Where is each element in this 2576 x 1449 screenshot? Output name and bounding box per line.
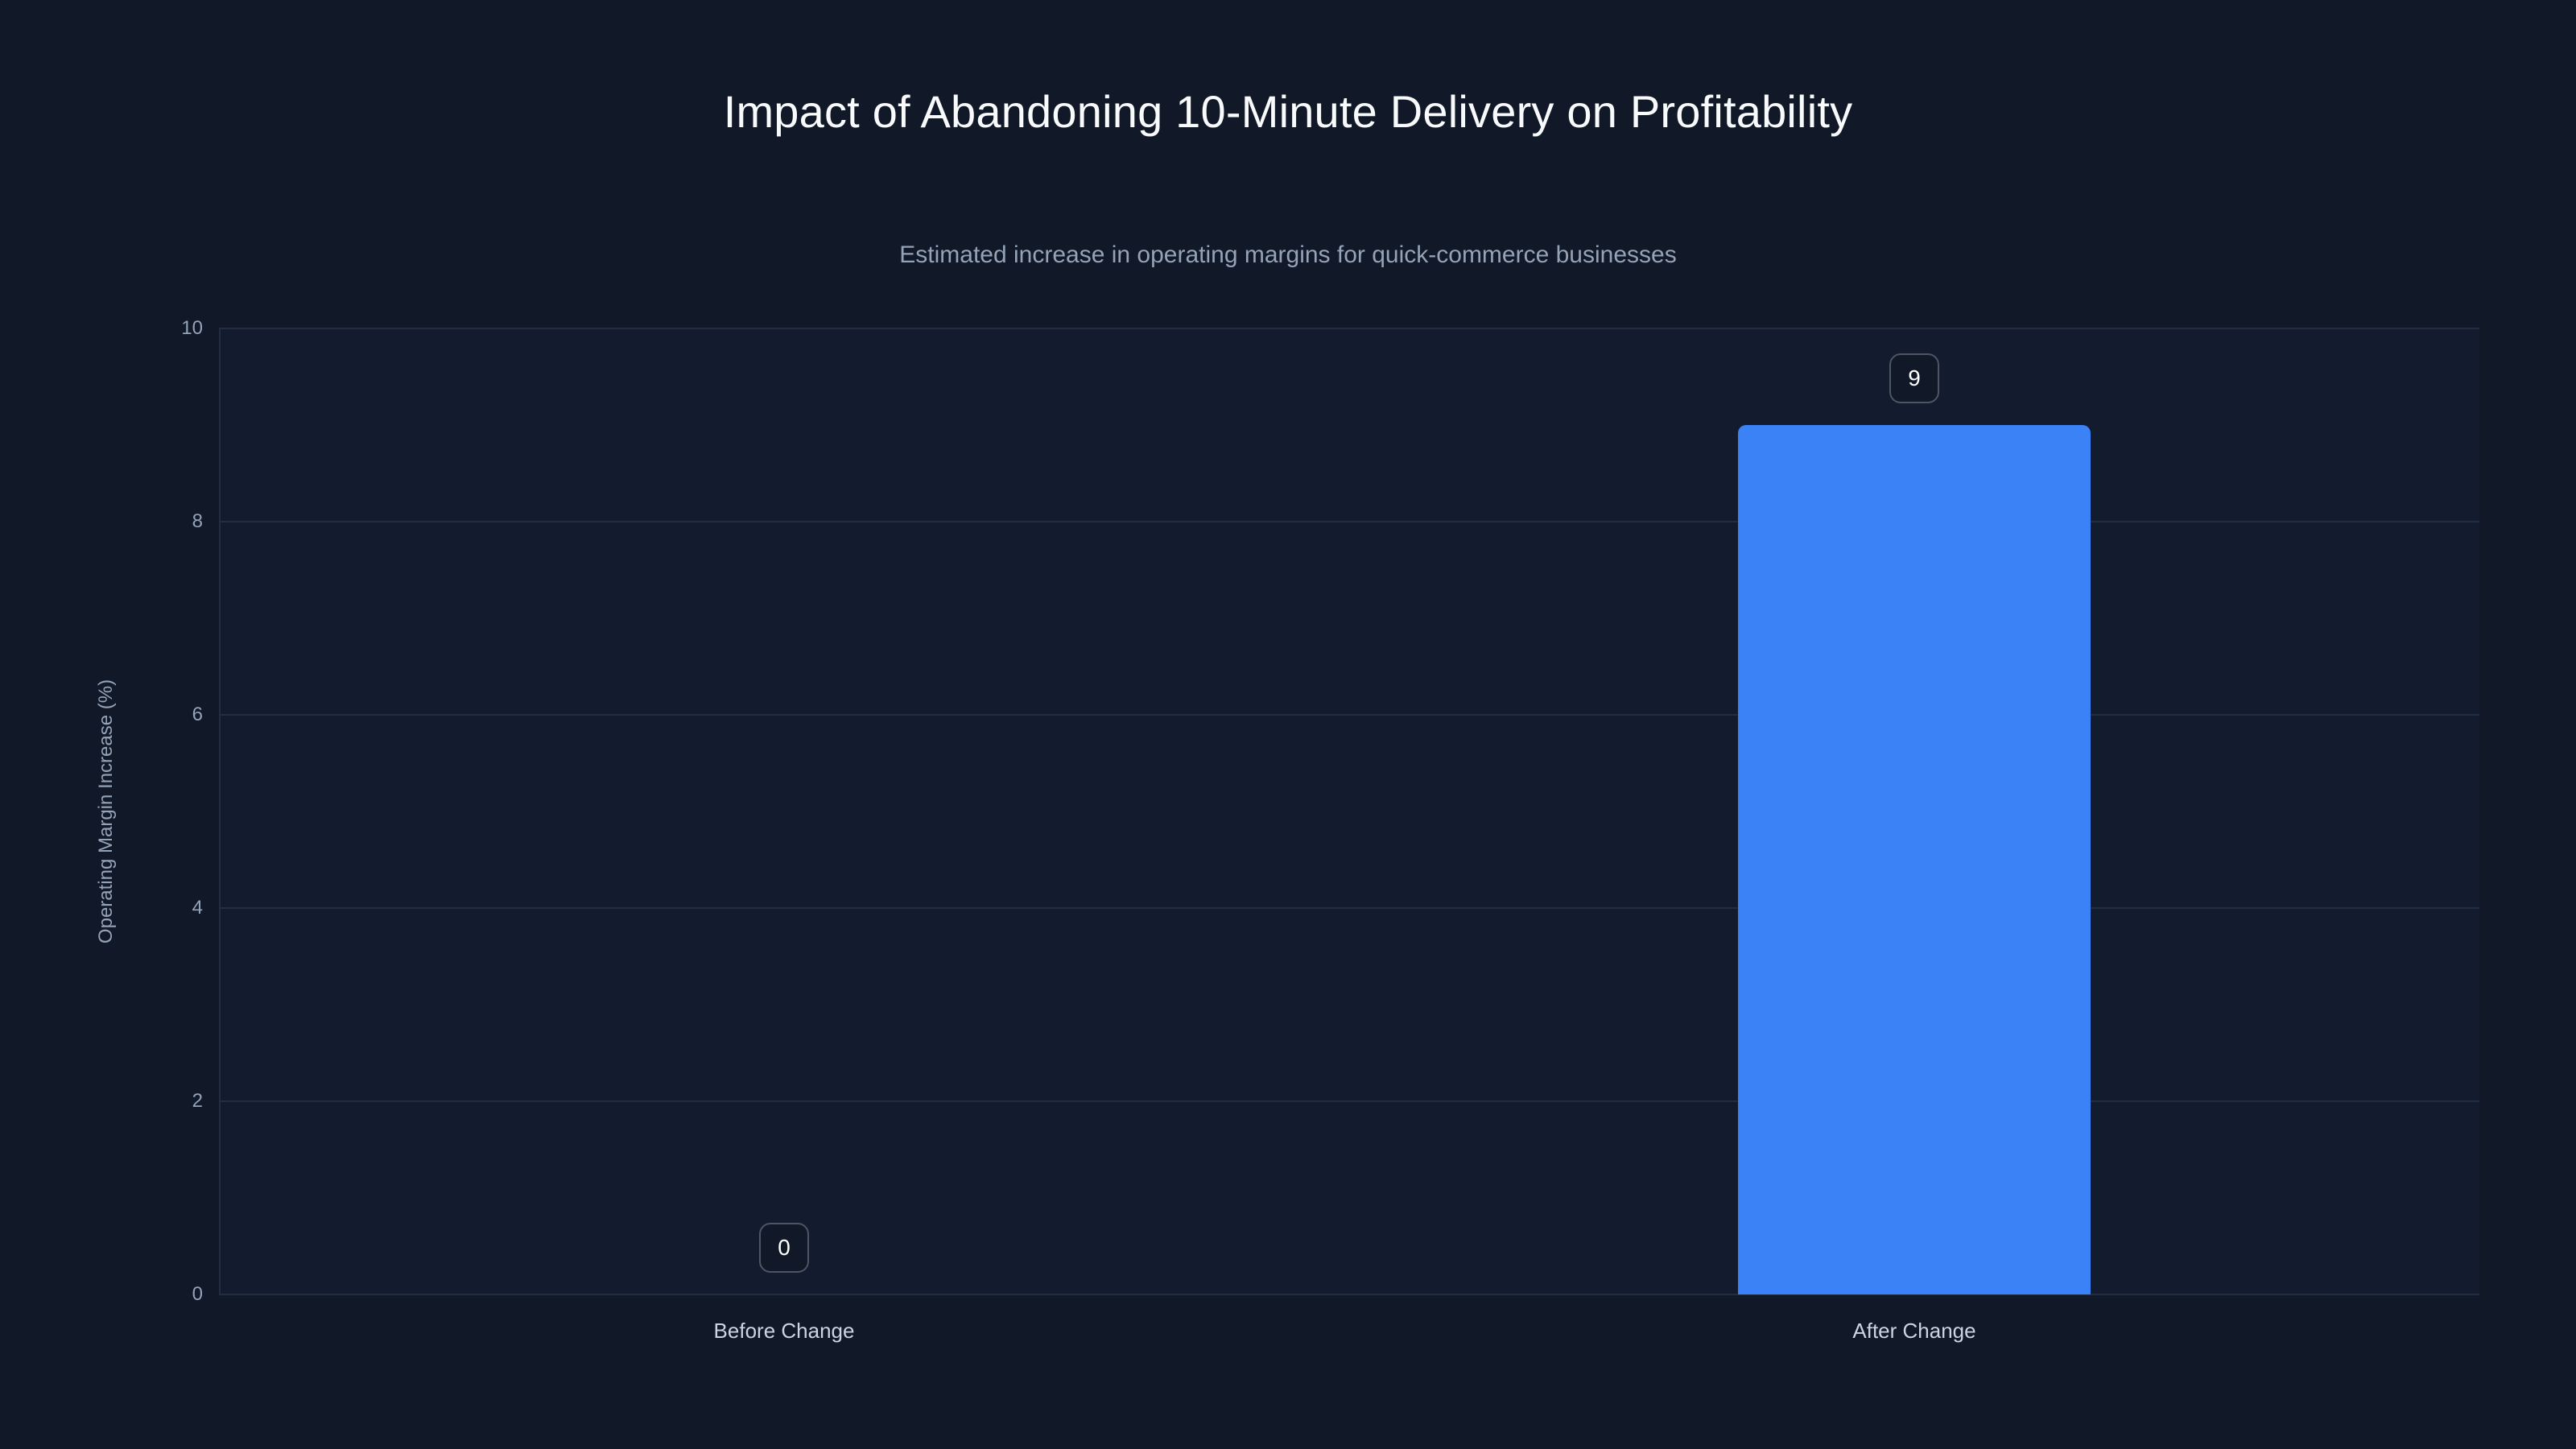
chart-title: Impact of Abandoning 10-Minute Delivery … bbox=[0, 87, 2576, 137]
x-axis-tick-label: After Change bbox=[1852, 1319, 1975, 1344]
y-axis-tick-label: 8 bbox=[145, 510, 203, 533]
y-axis-title-label: Operating Margin Increase (%) bbox=[95, 679, 118, 943]
y-axis-tick-labels: 0246810 bbox=[145, 328, 203, 1294]
y-axis-tick-label: 10 bbox=[145, 317, 203, 340]
bar-value-label: 0 bbox=[759, 1223, 809, 1273]
y-axis-tick-label: 0 bbox=[145, 1283, 203, 1306]
x-axis-tick-label: Before Change bbox=[714, 1319, 855, 1344]
bar[interactable] bbox=[1738, 425, 2091, 1294]
y-axis-tick-label: 6 bbox=[145, 704, 203, 726]
chart-subtitle: Estimated increase in operating margins … bbox=[0, 242, 2576, 268]
bar-value-label: 9 bbox=[1889, 353, 1939, 403]
chart-container: Impact of Abandoning 10-Minute Delivery … bbox=[0, 0, 2576, 1449]
y-axis-title: Operating Margin Increase (%) bbox=[90, 328, 122, 1294]
x-axis-tick-labels: Before ChangeAfter Change bbox=[219, 1319, 2479, 1367]
bars-layer: 09 bbox=[219, 328, 2479, 1294]
y-axis-tick-label: 4 bbox=[145, 897, 203, 919]
y-axis-tick-label: 2 bbox=[145, 1090, 203, 1113]
